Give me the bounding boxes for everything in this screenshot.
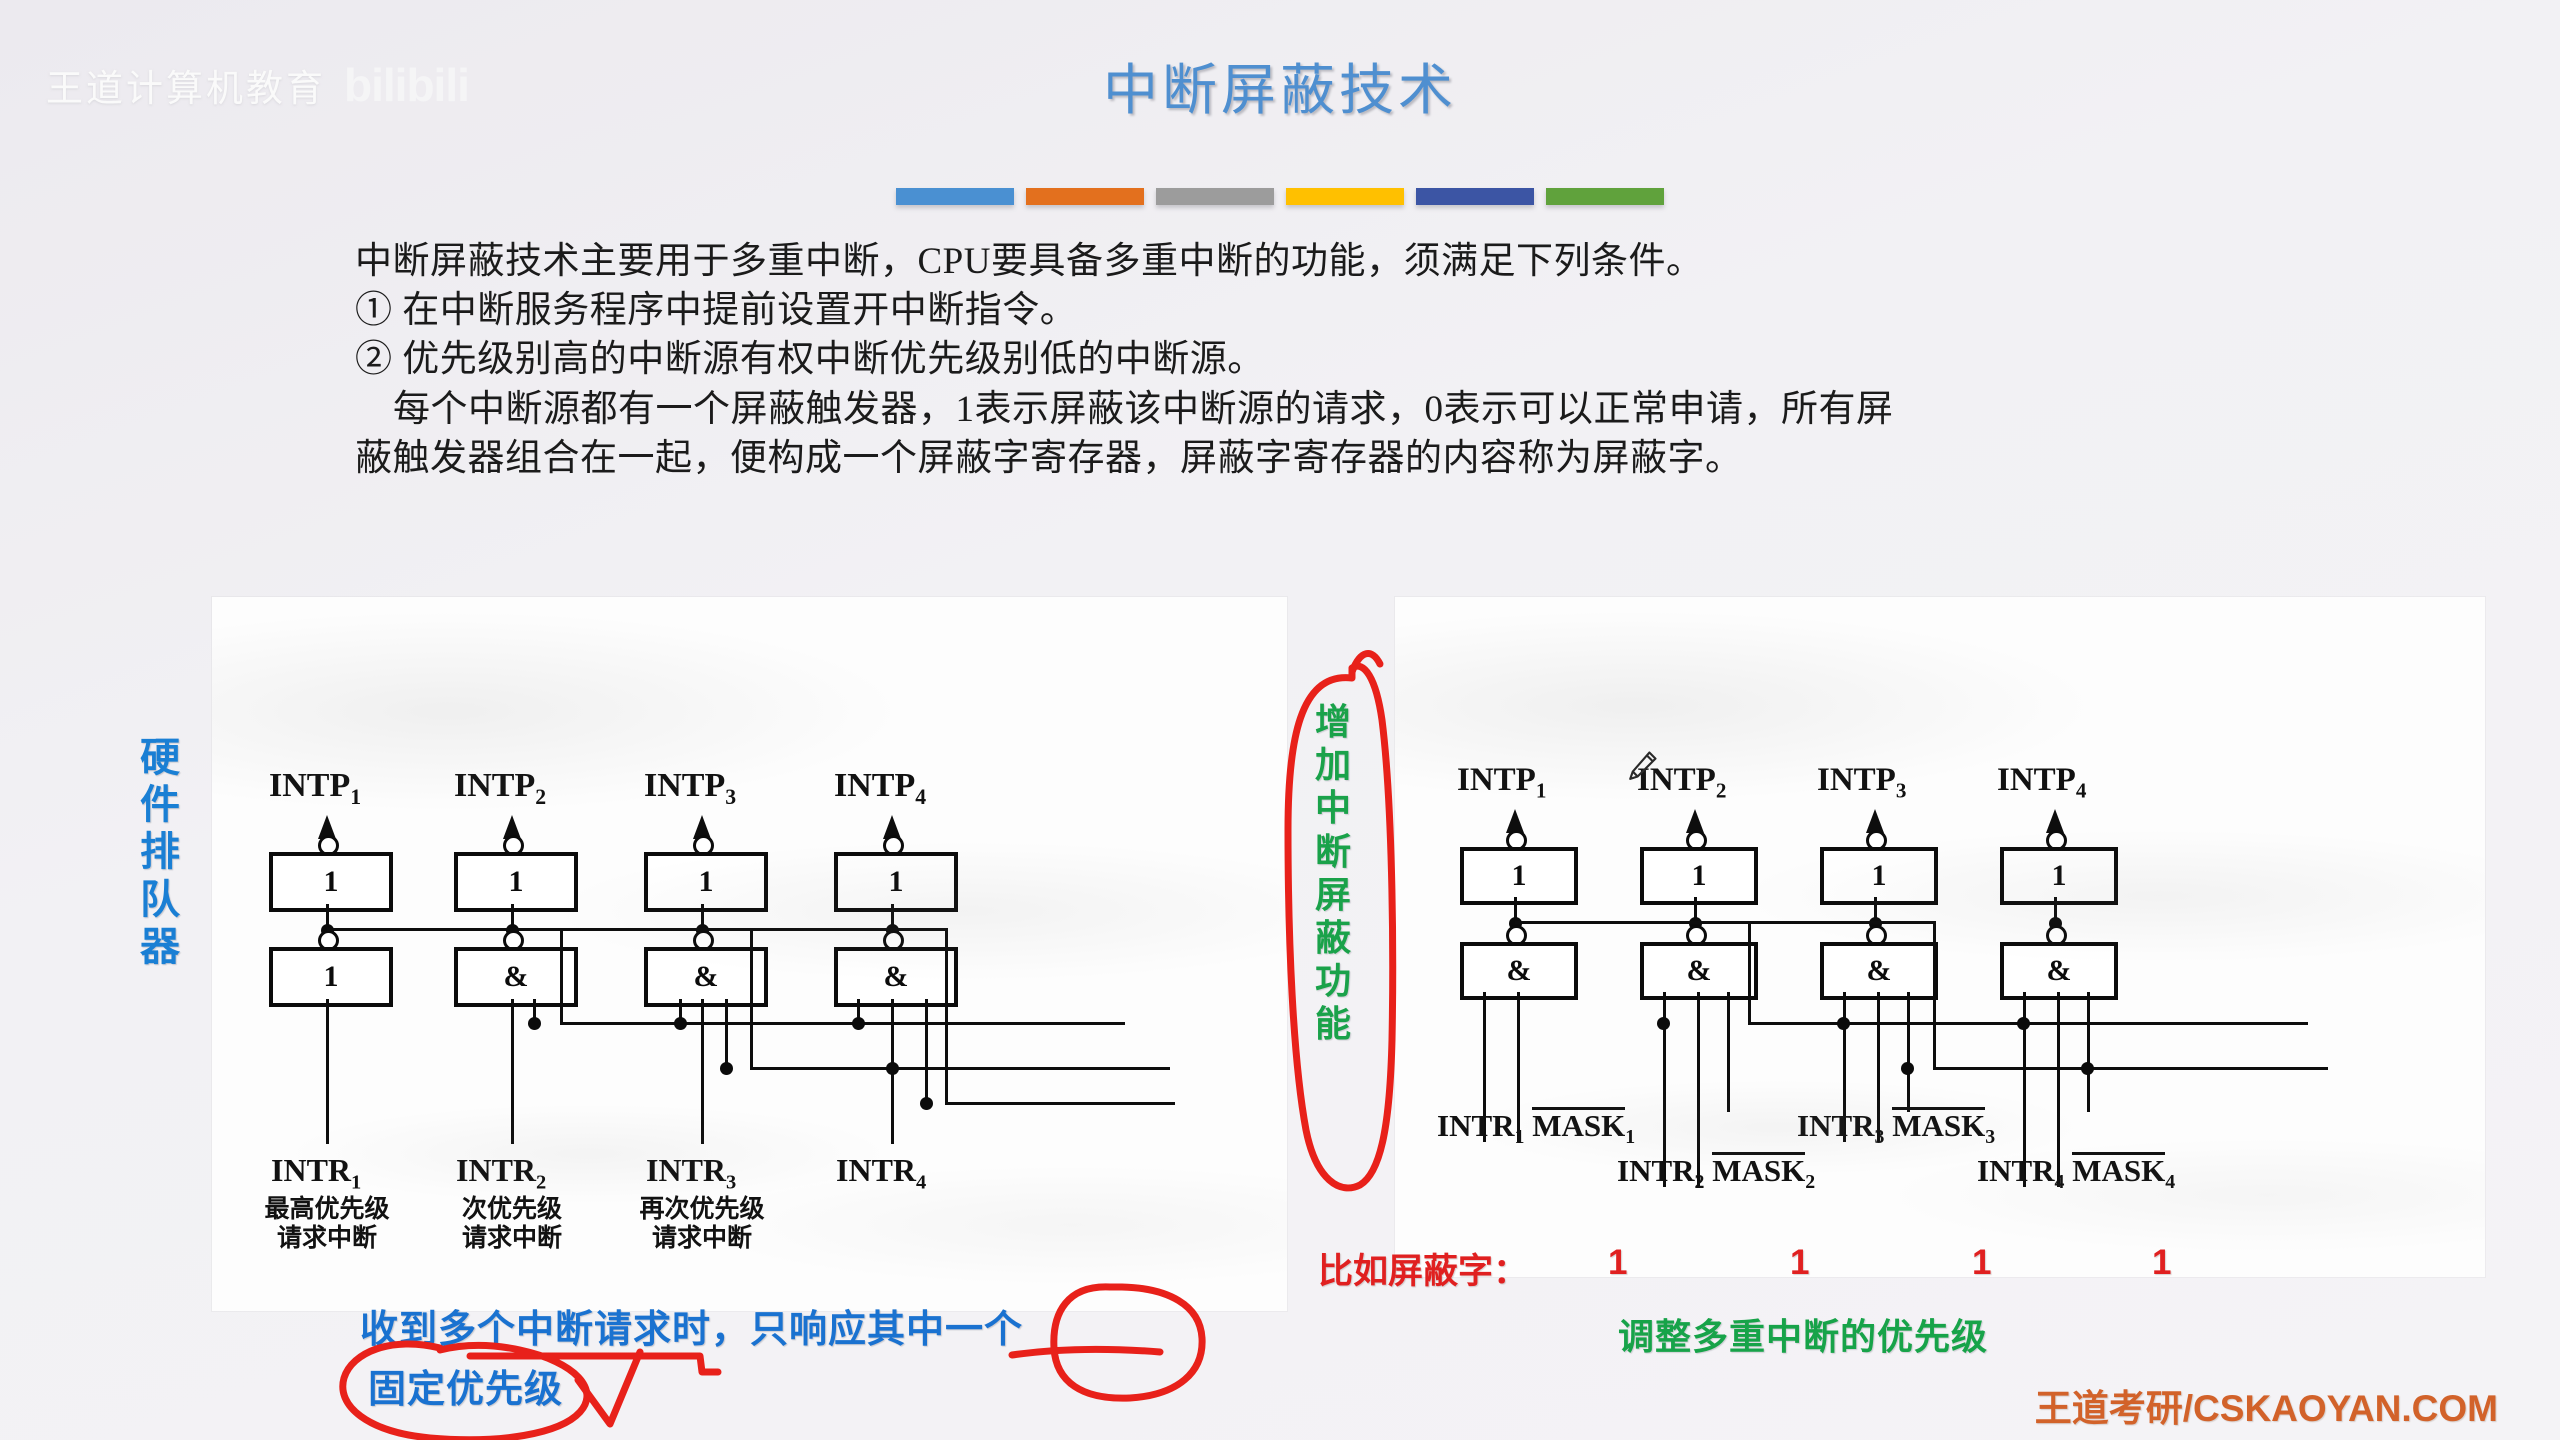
vertical-char: 屏 — [1307, 873, 1359, 916]
wire-down-2 — [511, 999, 514, 1144]
vertical-char: 器 — [133, 924, 187, 971]
r-bus-v-1 — [1748, 921, 1751, 1022]
gate-row1-2: 1 — [454, 852, 578, 912]
gate-row1-4: 1 — [834, 852, 958, 912]
vertical-char: 能 — [1307, 1002, 1359, 1045]
accent-bar — [896, 188, 1664, 205]
mask-bit-3: 1 — [1972, 1243, 1991, 1283]
r-output-label-intp-1: INTP1 — [1457, 762, 1546, 804]
bus-dot-5 — [920, 1097, 933, 1110]
mask-bit-2: 1 — [1790, 1243, 1809, 1283]
gate-row1-1: 1 — [269, 852, 393, 912]
bus-dot-0 — [528, 1017, 541, 1030]
bus-dot-3 — [852, 1017, 865, 1030]
body-line-2: ① 在中断服务程序中提前设置开中断指令。 — [355, 286, 2315, 335]
add-mask-function-annotation: 增加中断屏蔽功能 — [1307, 700, 1359, 1046]
vertical-char: 件 — [133, 782, 187, 829]
vertical-char: 排 — [133, 829, 187, 876]
r-gate-row1-4: 1 — [2000, 847, 2118, 905]
r-bus-h-2 — [1695, 921, 1935, 924]
body-line-4: 每个中断源都有一个屏蔽触发器，1表示屏蔽该中断源的请求，0表示可以正常申请，所有… — [355, 385, 2315, 434]
output-label-intp-1: INTP1 — [269, 767, 361, 810]
input-caption-2: 次优先级 请求中断 — [412, 1195, 612, 1253]
r-input-label-4: INTR4 MASK4 — [1977, 1152, 2175, 1194]
gate-input-stub-5 — [925, 999, 928, 1102]
r-leg-c-4 — [2087, 992, 2090, 1112]
bus-h-3b — [945, 1102, 1175, 1105]
bus-v-1 — [560, 928, 563, 1022]
r-gate-row1-2: 1 — [1640, 847, 1758, 905]
r-output-label-intp-3: INTP3 — [1817, 762, 1906, 804]
gate-input-stub-4 — [891, 999, 894, 1067]
footer-brand: 王道考研/CSKAOYAN.COM — [2035, 1378, 2498, 1432]
gate-row2-1: 1 — [269, 947, 393, 1007]
input-label-intr-3: INTR3 — [646, 1152, 736, 1194]
pencil-cursor-icon — [1626, 748, 1660, 782]
note-adjust-priority: 调整多重中断的优先级 — [1618, 1308, 1988, 1360]
bus-h-2b — [750, 1067, 1170, 1070]
hardware-queue-label: 硬件排队器 — [133, 735, 187, 971]
bus-v-3 — [945, 928, 948, 1102]
vertical-char: 增 — [1307, 700, 1359, 743]
gate-input-stub-2 — [725, 999, 728, 1067]
mask-bit-1: 1 — [1608, 1243, 1627, 1283]
r-leg-c-3 — [1907, 992, 1910, 1112]
r-gate-row1-3: 1 — [1820, 847, 1938, 905]
bus-dot-2 — [720, 1062, 733, 1075]
bus-dot-4 — [886, 1062, 899, 1075]
r-bus-v-2 — [1933, 921, 1936, 1067]
input-label-intr-2: INTR2 — [456, 1152, 546, 1194]
r-bus-dot-2 — [2017, 1017, 2030, 1030]
accent-bar-segment-2 — [1026, 188, 1144, 205]
accent-bar-segment-4 — [1286, 188, 1404, 205]
r-output-label-intp-4: INTP4 — [1997, 762, 2086, 804]
output-label-intp-3: INTP3 — [644, 767, 736, 810]
body-line-5: 蔽触发器组合在一起，便构成一个屏蔽字寄存器，屏蔽字寄存器的内容称为屏蔽字。 — [355, 434, 2315, 483]
note-fixed-priority: 固定优先级 — [368, 1358, 563, 1413]
r-gate-row1-1: 1 — [1460, 847, 1578, 905]
right-circuit-diagram: INTP11&INTP21&INTP31&INTP41&INTR1 MASK1I… — [1395, 597, 2485, 1277]
vertical-char: 硬 — [133, 735, 187, 782]
body-line-1: 中断屏蔽技术主要用于多重中断，CPU要具备多重中断的功能，须满足下列条件。 — [355, 237, 2315, 286]
bus-dot-1 — [674, 1017, 687, 1030]
bus-h-1b — [560, 1022, 1125, 1025]
vertical-char: 功 — [1307, 959, 1359, 1002]
bus-v-2 — [750, 928, 753, 1067]
note-multiple-requests: 收到多个中断请求时，只响应其中一个 — [360, 1298, 1023, 1353]
wire-down-1 — [326, 999, 329, 1144]
accent-bar-segment-1 — [896, 188, 1014, 205]
r-input-label-2: INTR2 MASK2 — [1617, 1152, 1815, 1194]
vertical-char: 断 — [1307, 830, 1359, 873]
accent-bar-segment-3 — [1156, 188, 1274, 205]
bus-h-3 — [702, 928, 947, 931]
input-label-intr-4: INTR4 — [836, 1152, 926, 1194]
mask-word-label: 比如屏蔽字： — [1318, 1243, 1528, 1294]
output-label-intp-4: INTP4 — [834, 767, 926, 810]
r-bus-dot-4 — [2081, 1062, 2094, 1075]
vertical-char: 队 — [133, 877, 187, 924]
output-label-intp-2: INTP2 — [454, 767, 546, 810]
accent-bar-segment-6 — [1546, 188, 1664, 205]
r-leg-c-2 — [1727, 992, 1730, 1112]
input-caption-3: 再次优先级 请求中断 — [602, 1195, 802, 1253]
gate-row1-3: 1 — [644, 852, 768, 912]
r-bus-h-2b — [1933, 1067, 2328, 1070]
input-label-intr-1: INTR1 — [271, 1152, 361, 1194]
page-title: 中断屏蔽技术 — [0, 45, 2560, 125]
gate-row2-4: & — [834, 947, 958, 1007]
r-bus-dot-3 — [1901, 1062, 1914, 1075]
r-bus-dot-0 — [1657, 1017, 1670, 1030]
wire-down-3 — [701, 999, 704, 1144]
r-input-label-3: INTR3 MASK3 — [1797, 1107, 1995, 1149]
accent-bar-segment-5 — [1416, 188, 1534, 205]
r-bus-dot-1 — [1837, 1017, 1850, 1030]
slide-canvas: 王道计算机教育 bilibili 中断屏蔽技术 中断屏蔽技术主要用于多重中断，C… — [0, 0, 2560, 1440]
vertical-char: 中 — [1307, 786, 1359, 829]
left-circuit-diagram: INTP111INTR1最高优先级 请求中断INTP21&INTR2次优先级 请… — [212, 597, 1287, 1311]
input-caption-1: 最高优先级 请求中断 — [227, 1195, 427, 1253]
mask-bit-4: 1 — [2152, 1243, 2171, 1283]
vertical-char: 蔽 — [1307, 916, 1359, 959]
r-input-label-1: INTR1 MASK1 — [1437, 1107, 1635, 1149]
body-paragraph: 中断屏蔽技术主要用于多重中断，CPU要具备多重中断的功能，须满足下列条件。① 在… — [355, 237, 2315, 483]
body-line-3: ② 优先级别高的中断源有权中断优先级别低的中断源。 — [355, 335, 2315, 384]
vertical-char: 加 — [1307, 743, 1359, 786]
